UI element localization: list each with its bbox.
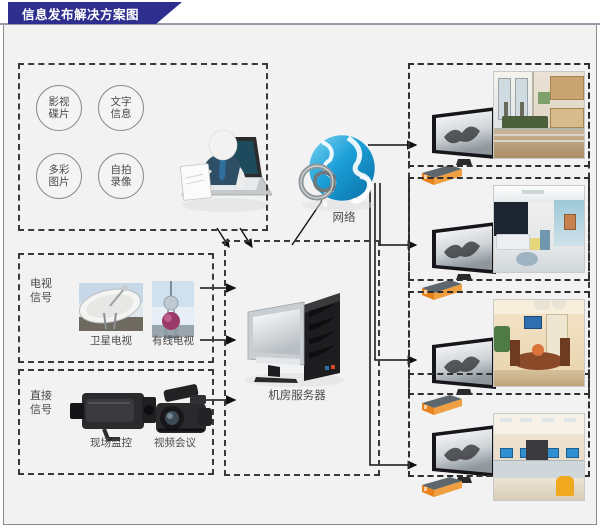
direct-signal-label-line2: 信号 (30, 403, 52, 416)
tv-signal-label: 电视 信号 (30, 277, 52, 305)
source-circle-4-line1: 自拍 (111, 164, 132, 176)
direct-signal-label: 直接 信号 (30, 389, 52, 417)
cable-tv-caption: 有线电视 (132, 333, 214, 348)
video-conference-caption: 视频会议 (134, 435, 216, 450)
endpoint-1-photo (493, 71, 585, 159)
endpoint-3-photo (493, 299, 585, 387)
tv-signal-label-line1: 电视 (30, 277, 52, 290)
server-group-box (224, 240, 380, 476)
page-title: 信息发布解决方案图 (22, 4, 139, 23)
diagram-canvas: 影视 碟片 文字 信息 多彩 图片 自拍 录像 电视 信号 卫星电视 有线电视 … (3, 25, 597, 525)
source-circle-4: 自拍 录像 (98, 153, 144, 199)
tv-signal-label-line2: 信号 (30, 291, 52, 304)
source-circle-4-line2: 录像 (111, 176, 132, 188)
network-caption: 网络 (314, 209, 374, 225)
source-circle-1: 影视 碟片 (36, 85, 82, 131)
source-circle-1-line2: 碟片 (49, 108, 70, 120)
direct-signal-group-box (18, 369, 214, 475)
source-circle-2-line2: 信息 (111, 108, 132, 120)
endpoint-4-photo (493, 413, 585, 501)
source-circle-3-line2: 图片 (49, 176, 70, 188)
title-banner-slant (156, 2, 182, 24)
source-circle-2: 文字 信息 (98, 85, 144, 131)
network-globe-illustration (301, 135, 375, 211)
source-circle-3-line1: 多彩 (49, 164, 70, 176)
source-circle-1-line1: 影视 (49, 96, 70, 108)
source-circle-2-line1: 文字 (111, 96, 132, 108)
endpoint-2-photo (493, 185, 585, 273)
page-title-banner: 信息发布解决方案图 (8, 2, 156, 24)
server-caption: 机房服务器 (242, 387, 352, 403)
direct-signal-label-line1: 直接 (30, 389, 52, 402)
source-circle-3: 多彩 图片 (36, 153, 82, 199)
